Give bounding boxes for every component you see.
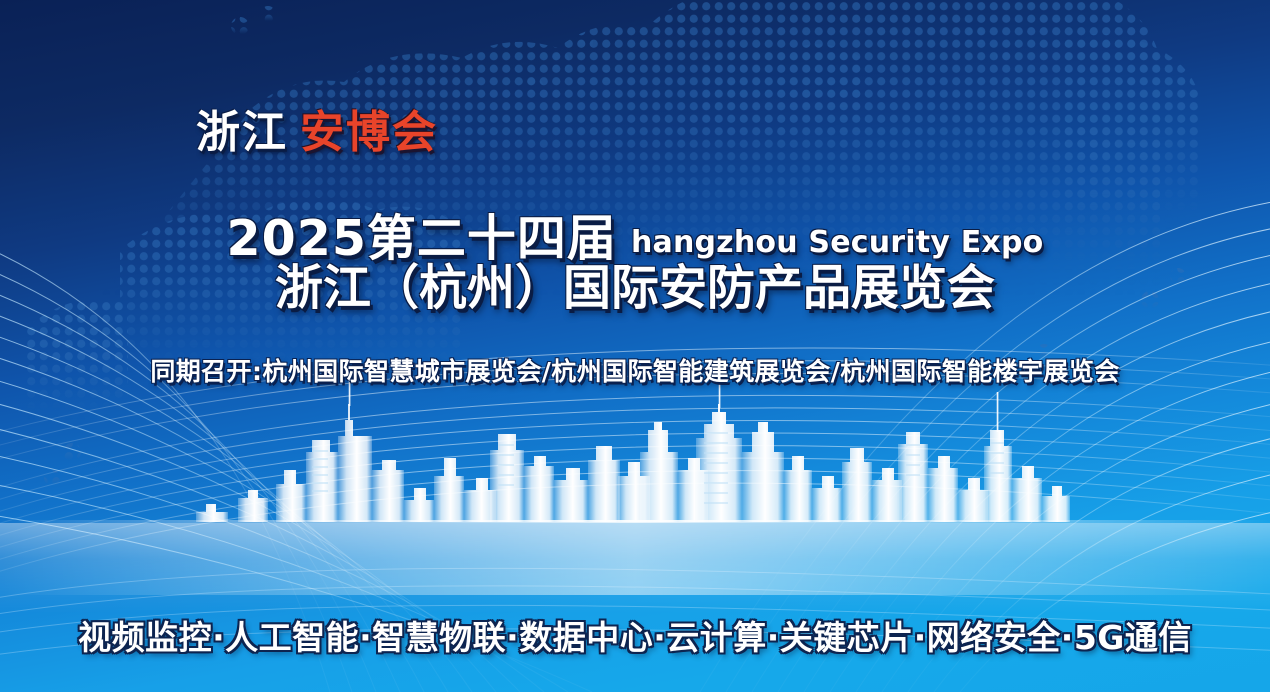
headline-row-secondary: 浙江（杭州）国际安防产品展览会 (0, 264, 1270, 313)
concurrent-events-line: 同期召开:杭州国际智慧城市展览会/杭州国际智能建筑展览会/杭州国际智能楼宇展览会 (0, 352, 1270, 388)
headline-expo-en: hangzhou Security Expo (631, 225, 1044, 260)
headline-edition-cn: 2025第二十四届 (227, 210, 617, 267)
headline-row-primary: 2025第二十四届hangzhou Security Expo (0, 214, 1270, 264)
brand-lockup: 浙江安博会 (196, 111, 438, 155)
headline-block: 2025第二十四届hangzhou Security Expo 浙江（杭州）国际… (0, 214, 1270, 313)
keyword-strip: 视频监控·人工智能·智慧物联·数据中心·云计算·关键芯片·网络安全·5G通信 (0, 611, 1270, 659)
brand-region-text: 浙江 (196, 107, 288, 158)
city-skyline-silhouette (0, 0, 1270, 692)
poster-canvas: 浙江安博会 2025第二十四届hangzhou Security Expo 浙江… (0, 0, 1270, 692)
headline-full-name-cn: 浙江（杭州）国际安防产品展览会 (275, 260, 995, 316)
brand-expo-text: 安博会 (300, 107, 438, 158)
